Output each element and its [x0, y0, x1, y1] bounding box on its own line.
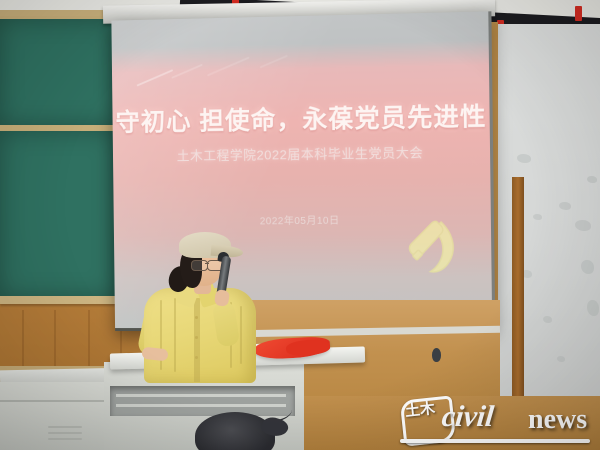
speaker-person — [139, 222, 264, 382]
watermark-news-text: news — [528, 404, 587, 436]
shirt-button — [195, 356, 198, 359]
watermark-civil-text: civil — [440, 400, 495, 434]
wood-trim-column — [512, 177, 524, 427]
shirt-button — [195, 316, 198, 319]
hammer-and-sickle-emblem — [397, 210, 469, 281]
door-knob[interactable] — [432, 348, 441, 362]
watermark-underline — [400, 439, 590, 443]
shirt-button — [195, 336, 198, 339]
watermark-logo: 土木 civil news — [398, 396, 594, 448]
eyeglasses-bridge — [205, 263, 209, 264]
beam-clip — [575, 6, 582, 21]
slide-subtitle: 土木工程学院2022届本科毕业生党员大会 — [113, 141, 490, 165]
shirt-placket — [194, 298, 200, 382]
chalkboard-panel — [0, 128, 119, 300]
eyeglasses-lens — [191, 260, 208, 271]
slide-title: 守初心 担使命，永葆党员先进性 — [112, 97, 489, 139]
classroom-meeting-photo: 守初心 担使命，永葆党员先进性 土木工程学院2022届本科毕业生党员大会 202… — [0, 0, 600, 450]
chalkboard-panel — [0, 16, 121, 128]
